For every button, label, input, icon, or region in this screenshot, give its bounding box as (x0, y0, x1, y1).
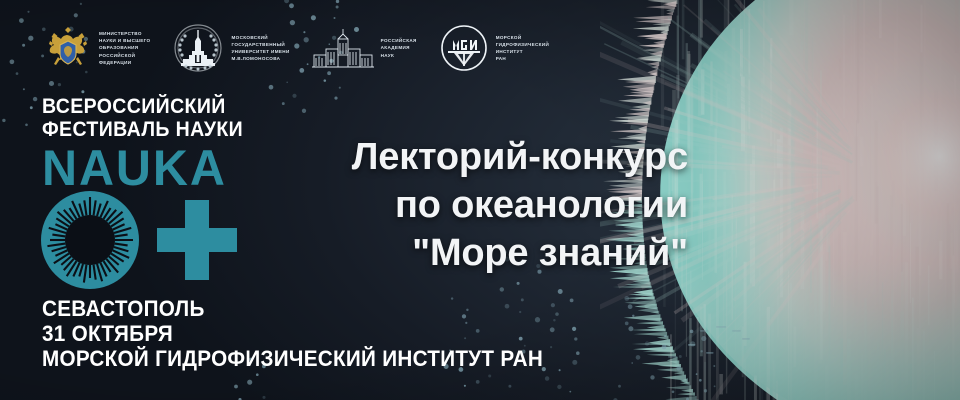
caption-line: Российская (381, 37, 417, 44)
caption-line: Федерации (99, 59, 150, 66)
logo-caption-mhi: Морской гидрофизический институт РАН (496, 34, 549, 62)
zero-plus-age-rating-icon (40, 190, 140, 290)
russian-coat-of-arms-icon (44, 23, 92, 73)
zero-plus-age-rating (40, 190, 240, 290)
logo-ras: Российская академия наук (312, 25, 417, 71)
caption-line: государственный (231, 41, 289, 48)
logo-msu: Московский государственный университет и… (172, 22, 289, 74)
venue-city: СЕВАСТОПОЛЬ (42, 297, 543, 322)
caption-line: Московский (231, 34, 289, 41)
caption-line: гидрофизический (496, 41, 549, 48)
title-line-2: по океанологии (352, 182, 688, 230)
nauka-wordmark: NAUKA (42, 145, 252, 193)
partner-logos: Министерство науки и высшего образования… (44, 22, 571, 74)
title-line-3: "Море знаний" (352, 230, 688, 278)
venue-block: СЕВАСТОПОЛЬ 31 ОКТЯБРЯ МОРСКОЙ ГИДРОФИЗИ… (42, 297, 575, 372)
logo-caption-msu: Московский государственный университет и… (231, 34, 289, 62)
logo-caption-ministry: Министерство науки и высшего образования… (99, 30, 150, 66)
caption-line: университет имени (231, 48, 289, 55)
logo-mhi-ras: Морской гидрофизический институт РАН (439, 23, 549, 73)
title-line-1: Лекторий-конкурс (352, 134, 688, 182)
caption-line: РАН (496, 55, 549, 62)
msu-emblem-icon (172, 22, 224, 74)
caption-line: Российской (99, 52, 150, 59)
festival-wordmark-block: ВСЕРОССИЙСКИЙ ФЕСТИВАЛЬ НАУКИ NAUKA (42, 96, 258, 193)
caption-line: образования (99, 44, 150, 51)
venue-date: 31 ОКТЯБРЯ (42, 322, 543, 347)
festival-line-2: ФЕСТИВАЛЬ НАУКИ (42, 119, 243, 142)
caption-line: Морской (496, 34, 549, 41)
event-title: Лекторий-конкурс по океанологии "Море зн… (352, 134, 688, 278)
caption-line: Министерство (99, 30, 150, 37)
venue-place: МОРСКОЙ ГИДРОФИЗИЧЕСКИЙ ИНСТИТУТ РАН (42, 347, 543, 372)
caption-line: науки и высшего (99, 37, 150, 44)
plus-sign-icon (154, 194, 240, 286)
caption-line: наук (381, 52, 417, 59)
festival-banner: Министерство науки и высшего образования… (0, 0, 960, 400)
mhi-ras-emblem-icon (439, 23, 489, 73)
logo-ministry-of-science: Министерство науки и высшего образования… (44, 23, 150, 73)
caption-line: М.В.Ломоносова (231, 55, 289, 62)
caption-line: академия (381, 44, 417, 51)
ras-building-icon (312, 25, 374, 71)
logo-caption-ras: Российская академия наук (381, 37, 417, 58)
festival-line-1: ВСЕРОССИЙСКИЙ (42, 96, 243, 119)
caption-line: институт (496, 48, 549, 55)
